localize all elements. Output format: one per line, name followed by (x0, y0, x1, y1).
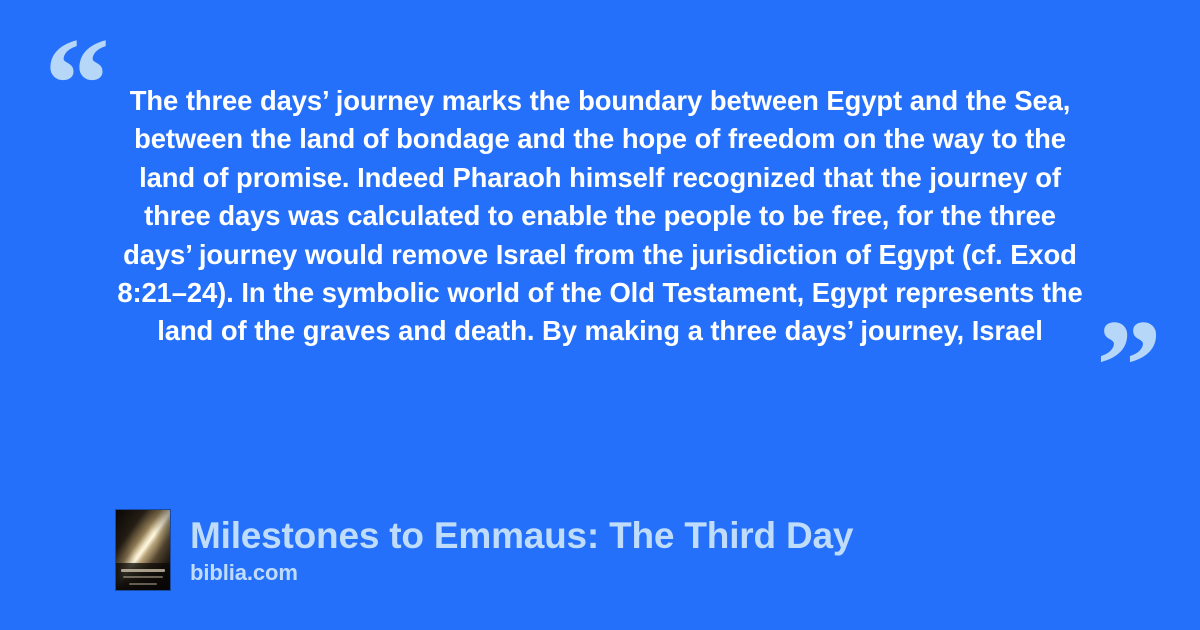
closing-quote-icon: ” (1096, 300, 1160, 432)
book-cover-author-line (129, 583, 157, 585)
footer: Milestones to Emmaus: The Third Day bibl… (116, 510, 853, 590)
book-cover-subtitle-line (123, 576, 163, 578)
opening-quote-icon: “ (44, 18, 108, 150)
quote-card: “ The three days’ journey marks the boun… (0, 0, 1200, 630)
quote-block: The three days’ journey marks the bounda… (108, 82, 1092, 351)
quote-text: The three days’ journey marks the bounda… (108, 82, 1092, 351)
book-cover-thumbnail (116, 510, 170, 590)
site-name: biblia.com (190, 560, 853, 586)
resource-title: Milestones to Emmaus: The Third Day (190, 515, 853, 557)
book-cover-title-line (121, 569, 165, 572)
footer-text-group: Milestones to Emmaus: The Third Day bibl… (190, 515, 853, 586)
